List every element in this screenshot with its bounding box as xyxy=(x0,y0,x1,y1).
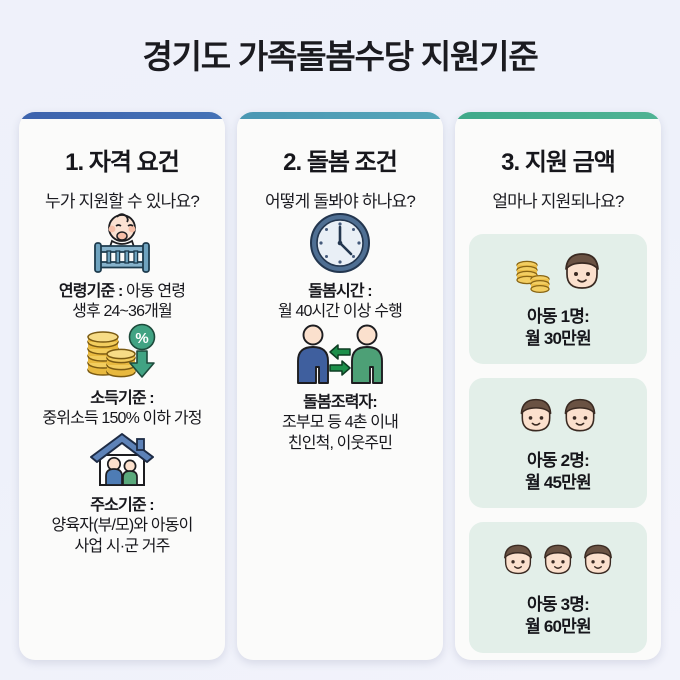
child-face-icon xyxy=(559,396,601,438)
house-with-family-icon xyxy=(85,430,159,488)
criterion-text: 연령기준 : 아동 연령 생후 24~36개월 xyxy=(59,282,185,323)
child-face-icon xyxy=(559,250,605,296)
card-title: 2. 돌봄 조건 xyxy=(283,142,397,177)
card-care-conditions: 2. 돌봄 조건 어떻게 돌봐야 하나요? xyxy=(237,112,443,660)
criterion-label: 연령기준 : xyxy=(59,283,123,300)
criterion-value-1: 아동 연령 xyxy=(126,283,185,300)
amount-text: 아동 3명: 월 60만원 xyxy=(525,594,591,638)
amount-tier-3: 아동 3명: 월 60만원 xyxy=(469,522,647,652)
amount-text: 아동 2명: 월 45만원 xyxy=(525,450,591,494)
baby-in-crib-icon xyxy=(86,212,158,274)
criterion-text: 주소기준 : 양육자(부/모)와 아동이 사업 시·군 거주 xyxy=(52,496,193,557)
amount-line-1: 아동 1명: xyxy=(527,307,589,326)
amount-tier-list: 아동 1명: 월 30만원 xyxy=(463,234,653,653)
card-accent-bar xyxy=(237,112,443,119)
two-children-icon xyxy=(515,390,601,444)
two-people-exchange-icon xyxy=(292,323,388,385)
amount-text: 아동 1명: 월 30만원 xyxy=(525,306,591,350)
child-face-icon xyxy=(579,542,617,580)
criterion-care-helper: 돌봄조력자: 조부모 등 4촌 이내 친인척, 이웃주민 xyxy=(245,323,435,454)
criterion-value-1: 조부모 등 4촌 이내 xyxy=(282,414,398,431)
card-subtitle: 어떻게 돌봐야 하나요? xyxy=(265,187,415,212)
criterion-value-2: 친인척, 이웃주민 xyxy=(288,435,392,452)
criterion-age: 연령기준 : 아동 연령 생후 24~36개월 xyxy=(27,212,217,323)
criteria-card-deck: 1. 자격 요건 누가 지원할 수 있나요? xyxy=(19,112,661,660)
criterion-care-hours: 돌봄시간 : 월 40시간 이상 수행 xyxy=(245,212,435,323)
card-title: 3. 지원 금액 xyxy=(501,142,615,177)
clock-icon xyxy=(309,212,371,274)
amount-line-1: 아동 2명: xyxy=(527,451,589,470)
criterion-text: 돌봄시간 : 월 40시간 이상 수행 xyxy=(278,282,402,323)
amount-tier-1: 아동 1명: 월 30만원 xyxy=(469,234,647,364)
coins-percent-down-arrow-icon: % xyxy=(81,323,163,381)
amount-line-2: 월 60만원 xyxy=(525,617,591,636)
child-face-icon xyxy=(499,542,537,580)
criterion-value-1: 양육자(부/모)와 아동이 xyxy=(52,517,193,534)
criterion-value-1: 중위소득 150% 이하 가정 xyxy=(42,410,201,427)
criterion-address: 주소기준 : 양육자(부/모)와 아동이 사업 시·군 거주 xyxy=(27,430,217,557)
three-children-icon xyxy=(499,534,617,588)
card-accent-bar xyxy=(455,112,661,119)
amount-line-1: 아동 3명: xyxy=(527,595,589,614)
card-accent-bar xyxy=(19,112,225,119)
child-face-icon xyxy=(539,542,577,580)
card-support-amount: 3. 지원 금액 얼마나 지원되나요? xyxy=(455,112,661,660)
criterion-value-2: 사업 시·군 거주 xyxy=(75,538,170,555)
criterion-label: 돌봄조력자: xyxy=(303,394,377,411)
card-title: 1. 자격 요건 xyxy=(65,142,179,177)
criterion-label: 돌봄시간 : xyxy=(308,283,372,300)
svg-text:%: % xyxy=(135,330,148,347)
coins-and-one-child-icon xyxy=(511,246,605,300)
card-subtitle: 누가 지원할 수 있나요? xyxy=(45,187,199,212)
criterion-value-2: 생후 24~36개월 xyxy=(72,303,172,320)
criterion-text: 돌봄조력자: 조부모 등 4촌 이내 친인척, 이웃주민 xyxy=(282,393,398,454)
criterion-value-1: 월 40시간 이상 수행 xyxy=(278,303,402,320)
page-title: 경기도 가족돌봄수당 지원기준 xyxy=(0,30,680,78)
amount-line-2: 월 45만원 xyxy=(525,473,591,492)
child-face-icon xyxy=(515,396,557,438)
criterion-label: 주소기준 : xyxy=(90,497,154,514)
criterion-label: 소득기준 : xyxy=(90,390,154,407)
criterion-text: 소득기준 : 중위소득 150% 이하 가정 xyxy=(42,389,201,430)
card-subtitle: 얼마나 지원되나요? xyxy=(492,187,623,212)
criterion-income: % 소득기준 : 중위소득 150% 이하 가정 xyxy=(27,323,217,430)
amount-tier-2: 아동 2명: 월 45만원 xyxy=(469,378,647,508)
card-eligibility: 1. 자격 요건 누가 지원할 수 있나요? xyxy=(19,112,225,660)
amount-line-2: 월 30만원 xyxy=(525,329,591,348)
